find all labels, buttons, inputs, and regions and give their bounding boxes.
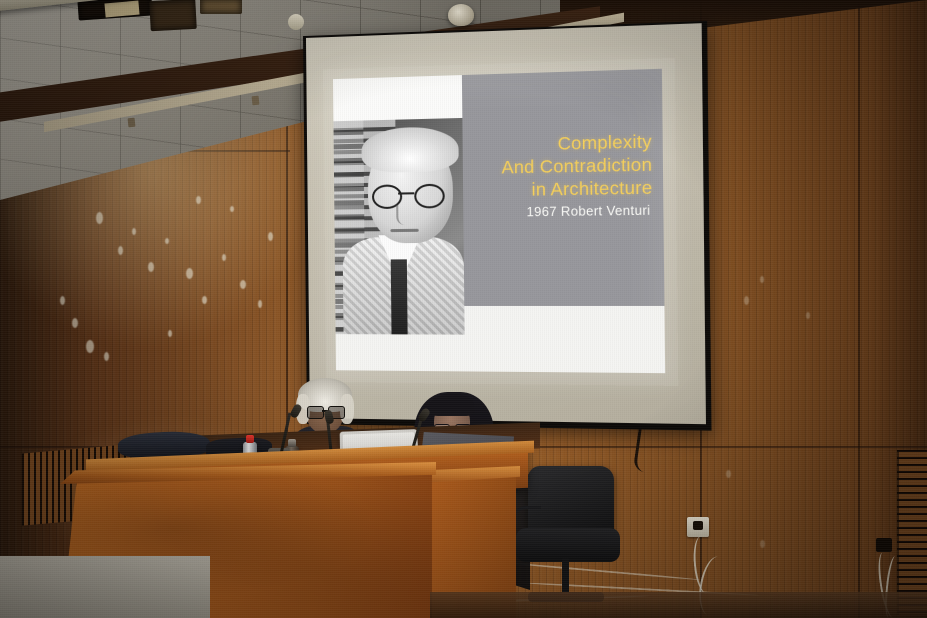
person-hair-fringe bbox=[430, 394, 474, 416]
pipe-clip bbox=[252, 96, 260, 106]
wall-panel-seam bbox=[858, 0, 860, 618]
lecture-hall-photo: Complexity And Contradiction in Architec… bbox=[0, 0, 927, 618]
projection-screen: Complexity And Contradiction in Architec… bbox=[303, 21, 712, 431]
ceiling-tile-highlight bbox=[104, 1, 139, 18]
portrait-nose bbox=[396, 205, 408, 225]
bottle-cap bbox=[288, 439, 296, 447]
missing-ceiling-tile bbox=[200, 0, 242, 14]
screen-roller-cap bbox=[288, 14, 304, 30]
wall-junction-box[interactable] bbox=[876, 538, 892, 552]
slide-title: Complexity And Contradiction in Architec… bbox=[471, 130, 653, 202]
portrait-eyeglasses-icon bbox=[372, 184, 453, 206]
slide-subtitle: 1967 Robert Venturi bbox=[469, 203, 650, 220]
bottle-cap bbox=[246, 435, 254, 443]
projected-slide: Complexity And Contradiction in Architec… bbox=[333, 69, 665, 373]
floor-left bbox=[0, 556, 210, 618]
floor-right-shadow bbox=[430, 592, 927, 618]
wall-vent-vertical bbox=[897, 450, 927, 615]
missing-ceiling-tile bbox=[149, 0, 197, 31]
pipe-clip bbox=[128, 118, 136, 128]
slide-title-line-2: And Contradiction bbox=[471, 153, 652, 179]
slide-white-band bbox=[333, 75, 462, 121]
portrait-mouth bbox=[390, 229, 418, 232]
office-chair-seat[interactable] bbox=[516, 528, 620, 562]
ceiling-dome-light-icon bbox=[448, 4, 474, 26]
slide-title-line-3: in Architecture bbox=[471, 176, 652, 202]
portrait-tie bbox=[391, 259, 408, 334]
venturi-portrait-photo bbox=[333, 118, 464, 335]
portrait-hair bbox=[361, 126, 458, 173]
wall-outlet[interactable] bbox=[687, 517, 709, 537]
